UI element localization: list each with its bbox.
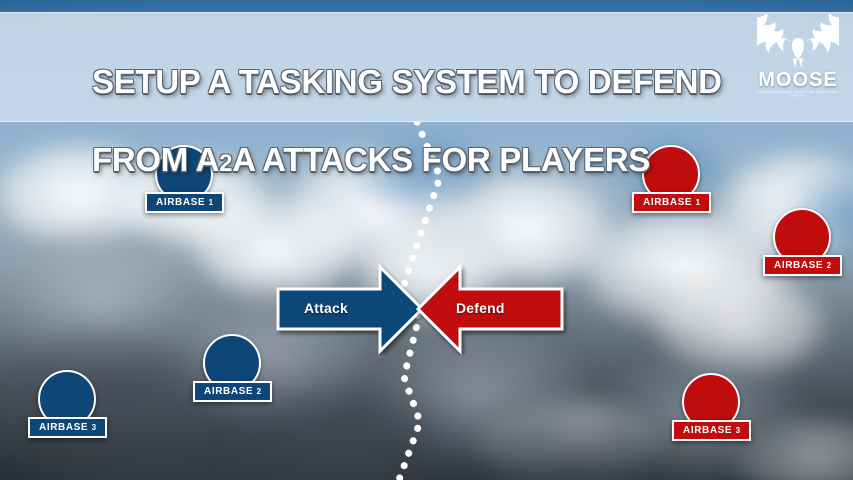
airbase-label-text: AIRBASE bbox=[683, 425, 732, 436]
airbase-label: AIRBASE 1 bbox=[145, 192, 224, 213]
airbase-marker-blue-2[interactable]: AIRBASE 2 bbox=[193, 334, 272, 402]
airbase-label-number: 3 bbox=[92, 423, 97, 432]
airbase-label-number: 2 bbox=[257, 387, 262, 396]
airbase-label: AIRBASE 1 bbox=[632, 192, 711, 213]
presentation-slide: Attack Defend AIRBASE 1 AIRBASE 2 AIRBAS… bbox=[0, 0, 853, 480]
moose-tagline: MISSION OBJECT ORIENTED SCRIPTING ENGINE bbox=[757, 90, 839, 97]
airbase-label-number: 2 bbox=[827, 261, 832, 270]
airbase-marker-red-2[interactable]: AIRBASE 2 bbox=[763, 208, 842, 276]
airbase-label: AIRBASE 3 bbox=[672, 420, 751, 441]
airbase-label: AIRBASE 2 bbox=[763, 255, 842, 276]
title-line-2-post: A ATTACKS FOR PLAYERS bbox=[232, 141, 650, 178]
moose-antlers-icon bbox=[757, 14, 839, 74]
airbase-label-text: AIRBASE bbox=[643, 197, 692, 208]
moose-wordmark: MOOSE bbox=[757, 69, 839, 92]
title-line-1: SETUP A TASKING SYSTEM TO DEFEND bbox=[92, 63, 722, 100]
title-line-2-pre: FROM A bbox=[92, 141, 219, 178]
title-line-2-subscript: 2 bbox=[219, 150, 232, 177]
airbase-label-text: AIRBASE bbox=[156, 197, 205, 208]
airbase-label-text: AIRBASE bbox=[39, 422, 88, 433]
airbase-label-number: 1 bbox=[696, 198, 701, 207]
airbase-label-number: 1 bbox=[209, 198, 214, 207]
airbase-label-text: AIRBASE bbox=[774, 260, 823, 271]
airbase-marker-blue-3[interactable]: AIRBASE 3 bbox=[28, 370, 107, 438]
airbase-label: AIRBASE 3 bbox=[28, 417, 107, 438]
airbase-marker-red-3[interactable]: AIRBASE 3 bbox=[672, 373, 751, 441]
page-title: SETUP A TASKING SYSTEM TO DEFEND FROM A2… bbox=[92, 24, 732, 180]
attack-arrow-label: Attack bbox=[304, 300, 348, 316]
airbase-label-number: 3 bbox=[736, 426, 741, 435]
airbase-label-text: AIRBASE bbox=[204, 386, 253, 397]
defend-arrow-label: Defend bbox=[456, 300, 505, 316]
moose-logo: MOOSE MISSION OBJECT ORIENTED SCRIPTING … bbox=[757, 14, 839, 110]
airbase-label: AIRBASE 2 bbox=[193, 381, 272, 402]
attack-arrow-shape bbox=[278, 267, 422, 351]
attack-defend-arrows: Attack Defend bbox=[270, 263, 570, 355]
